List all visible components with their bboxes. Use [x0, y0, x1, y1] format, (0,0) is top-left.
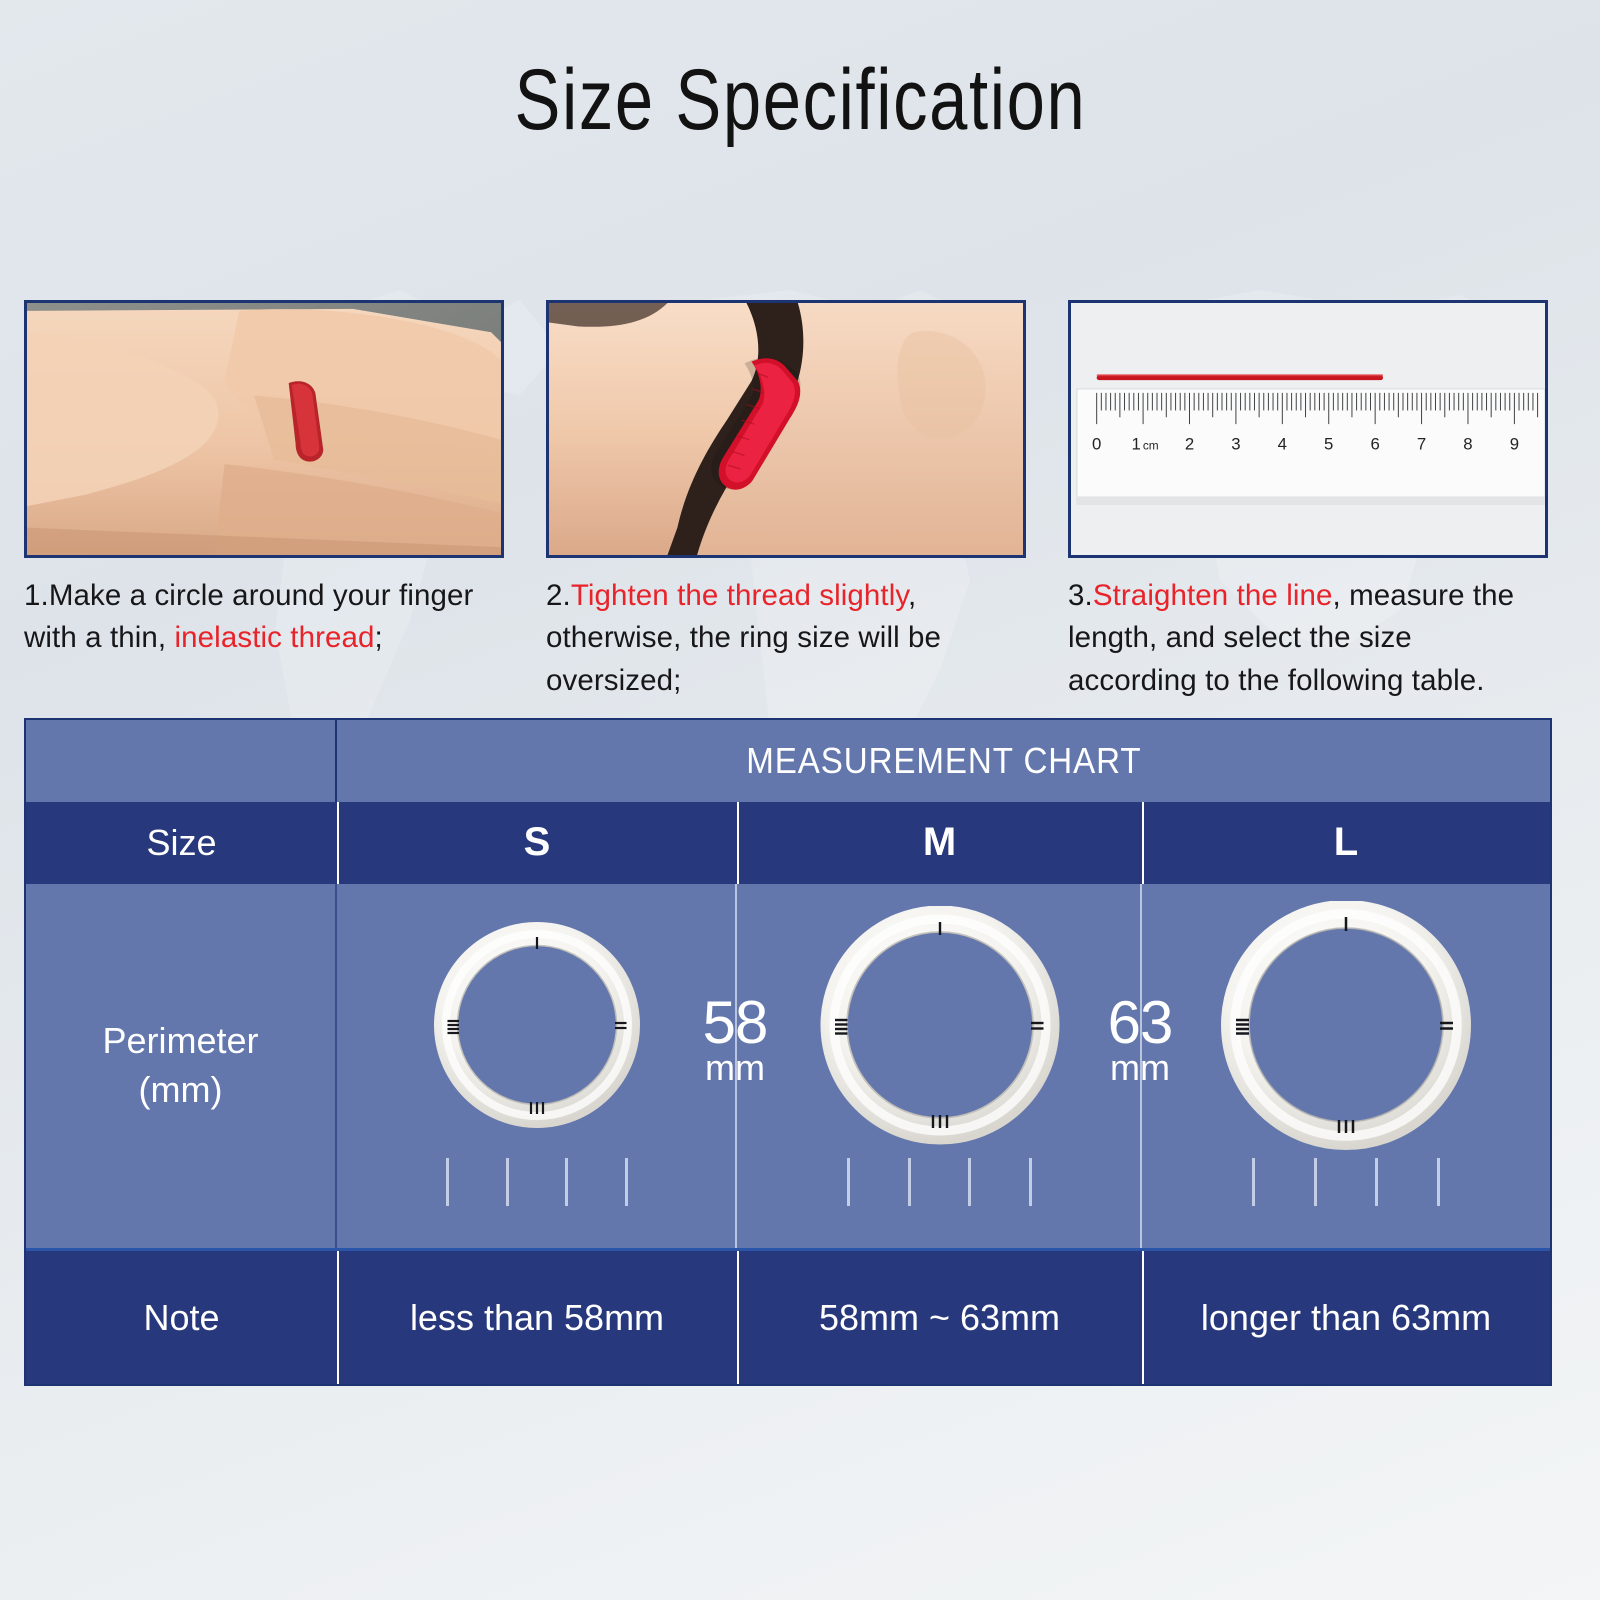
note-value-m: 58mm ~ 63mm	[819, 1297, 1060, 1339]
svg-text:3: 3	[1231, 435, 1240, 454]
tightened-thread-icon	[549, 303, 1023, 555]
scale-ticks-l	[1142, 1150, 1550, 1212]
step-2-photo	[546, 300, 1026, 558]
scale-tick	[1314, 1158, 1317, 1206]
step-1-photo	[24, 300, 504, 558]
note-value-s: less than 58mm	[410, 1297, 664, 1339]
step-3-text-red: Straighten the line	[1093, 579, 1333, 612]
scale-tick	[565, 1158, 568, 1206]
scale-ticks-s	[337, 1150, 737, 1212]
perimeter-value-58-unit: mm	[660, 1051, 810, 1085]
step-3-caption: 3.Straighten the line, measure the lengt…	[1068, 575, 1548, 702]
perimeter-value-58-number: 58	[660, 994, 810, 1051]
ring-holder-m	[820, 902, 1060, 1150]
chart-title-cell: MEASUREMENT CHART	[337, 720, 1550, 802]
step-1-caption: 1.Make a circle around your finger with …	[24, 575, 504, 660]
ring-holder-l	[1221, 902, 1471, 1150]
chart-title-text: MEASUREMENT CHART	[746, 740, 1141, 782]
table-row-note: Note less than 58mm 58mm ~ 63mm longer t…	[26, 1248, 1550, 1384]
perimeter-value-63: 63 mm	[1065, 994, 1215, 1085]
steps-row: 1.Make a circle around your finger with …	[24, 300, 1576, 702]
size-value-m: M	[923, 820, 956, 865]
note-cell-l: longer than 63mm	[1142, 1251, 1550, 1384]
ring-icon-m	[820, 906, 1060, 1146]
ruler-measure-icon: 0 1cm 2 3 4 5 6 7 8 9	[1071, 303, 1545, 555]
step-1-number: 1.	[24, 579, 49, 612]
perimeter-value-63-number: 63	[1065, 994, 1215, 1051]
note-cell-m: 58mm ~ 63mm	[737, 1251, 1142, 1384]
perimeter-value-63-unit: mm	[1065, 1051, 1215, 1085]
step-1: 1.Make a circle around your finger with …	[24, 300, 504, 702]
size-cell-s: S	[337, 802, 737, 884]
step-2-number: 2.	[546, 579, 571, 612]
scale-tick	[908, 1158, 911, 1206]
scale-tick	[446, 1158, 449, 1206]
step-3-number: 3.	[1068, 579, 1093, 612]
page-title: Size Specification	[514, 55, 1086, 145]
step-1-text-after: ;	[375, 621, 383, 654]
ring-icon-s	[433, 922, 641, 1130]
scale-ticks-m	[737, 1150, 1142, 1212]
scale-tick	[1252, 1158, 1255, 1206]
scale-tick	[1029, 1158, 1032, 1206]
table-row-chart-title: MEASUREMENT CHART	[26, 720, 1550, 802]
measurement-table: MEASUREMENT CHART Size S M L Perimeter (…	[24, 718, 1552, 1386]
scale-tick	[1375, 1158, 1378, 1206]
size-row-label-cell: Size	[26, 802, 337, 884]
step-2: 2.Tighten the thread slightly, otherwise…	[546, 300, 1026, 702]
size-row-label: Size	[146, 822, 216, 864]
note-cell-s: less than 58mm	[337, 1251, 737, 1384]
hand-with-thread-icon	[27, 303, 501, 555]
table-row-size: Size S M L	[26, 802, 1550, 884]
ring-holder-s	[433, 902, 641, 1150]
note-row-label: Note	[143, 1297, 219, 1339]
svg-text:2: 2	[1185, 435, 1194, 454]
perimeter-label: Perimeter (mm)	[102, 1017, 258, 1114]
step-2-caption: 2.Tighten the thread slightly, otherwise…	[546, 575, 1026, 702]
svg-text:0: 0	[1092, 435, 1101, 454]
svg-text:4: 4	[1278, 435, 1287, 454]
svg-text:8: 8	[1463, 435, 1472, 454]
svg-text:7: 7	[1417, 435, 1426, 454]
perimeter-label-line1: Perimeter	[102, 1017, 258, 1066]
scale-tick	[1437, 1158, 1440, 1206]
scale-tick	[847, 1158, 850, 1206]
note-row-label-cell: Note	[26, 1251, 337, 1384]
perimeter-value-58: 58 mm	[660, 994, 810, 1085]
ring-icon-l	[1221, 901, 1471, 1151]
size-cell-l: L	[1142, 802, 1550, 884]
step-1-text-red: inelastic thread	[175, 621, 375, 654]
step-3: 0 1cm 2 3 4 5 6 7 8 9 3.Straighten the l…	[1068, 300, 1548, 702]
scale-tick	[506, 1158, 509, 1206]
perimeter-label-cell: Perimeter (mm)	[26, 884, 337, 1249]
scale-tick	[968, 1158, 971, 1206]
perimeter-label-line2: (mm)	[102, 1066, 258, 1115]
page-title-wrap: Size Specification	[0, 55, 1600, 145]
size-value-s: S	[524, 820, 551, 865]
scale-tick	[625, 1158, 628, 1206]
step-3-photo: 0 1cm 2 3 4 5 6 7 8 9	[1068, 300, 1548, 558]
svg-text:5: 5	[1324, 435, 1333, 454]
svg-text:9: 9	[1510, 435, 1519, 454]
step-2-text-red: Tighten the thread slightly	[571, 579, 908, 612]
size-value-l: L	[1334, 820, 1358, 865]
table-row-perimeter: Perimeter (mm)	[26, 884, 1550, 1249]
size-cell-m: M	[737, 802, 1142, 884]
note-value-l: longer than 63mm	[1201, 1297, 1491, 1339]
svg-text:6: 6	[1370, 435, 1379, 454]
chart-title-spacer	[26, 720, 337, 802]
